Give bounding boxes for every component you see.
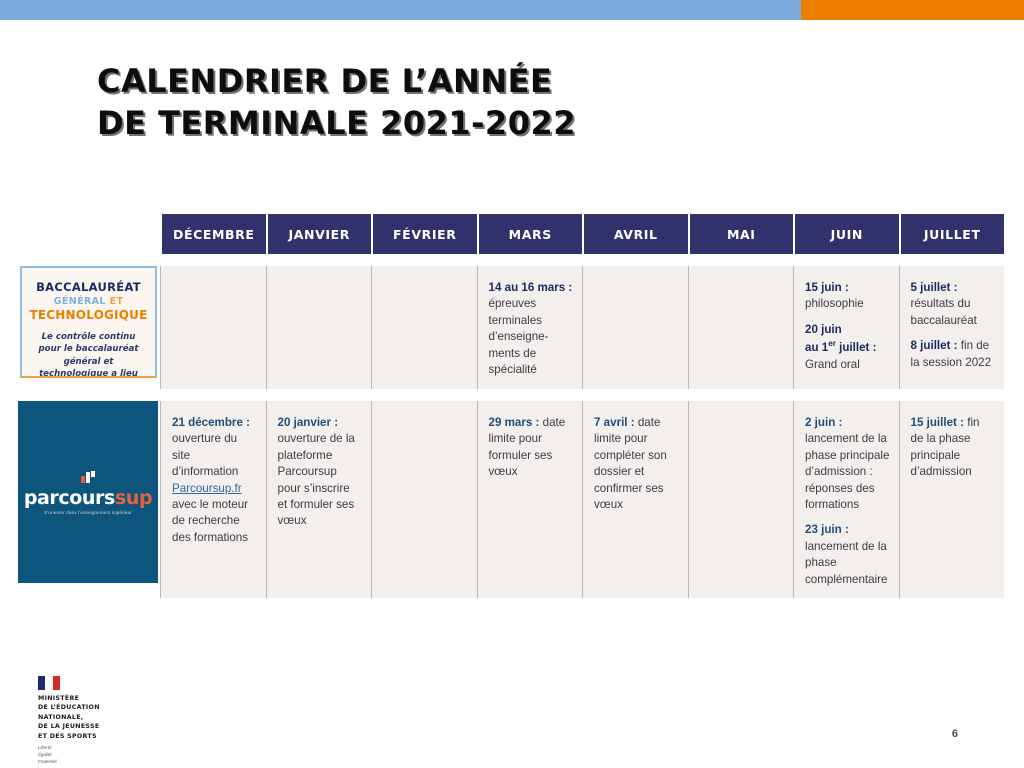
entry-date: 23 juin : — [805, 523, 849, 536]
title-line-1: CALENDRIER DE L’ANNÉE — [97, 60, 797, 102]
entry-date: 2 juin : — [805, 416, 842, 429]
bac-title-et: ET — [110, 296, 124, 307]
ministry-logo: MINISTÈRE DE L’ÉDUCATION NATIONALE, DE L… — [38, 676, 168, 766]
entry-ps-juin-1: 2 juin : lancement de la phase principal… — [805, 415, 890, 514]
entry-date: 5 juillet : — [911, 281, 958, 294]
row-parcoursup: parcourssup S’orienter dans l’enseigneme… — [16, 401, 1004, 599]
bac-title-line1: BACCALAURÉAT — [22, 280, 155, 294]
republic-motto: Liberté Égalité Fraternité — [38, 745, 168, 765]
top-banner — [0, 0, 1024, 20]
entry-date: 8 juillet : — [911, 339, 958, 352]
entry-bac-mars-1: 14 au 16 mars : épreuves terminales d’en… — [489, 280, 574, 379]
entry-date: 29 mars : — [489, 416, 540, 429]
entry-text: philosophie — [805, 297, 864, 310]
cell-ps-juillet: 15 juillet : fin de la phase principale … — [899, 401, 1005, 599]
entry-text: ouverture de la plateforme Parcoursup po… — [278, 432, 355, 527]
french-flag-icon — [38, 676, 60, 690]
cell-ps-fevrier — [371, 401, 477, 599]
month-header-janvier: JANVIER — [268, 214, 372, 254]
parcoursup-link[interactable]: Parcoursup.fr — [172, 482, 242, 495]
parcoursup-word-1: parcours — [24, 487, 115, 509]
cell-ps-avril: 7 avril : date limite pour compléter son… — [582, 401, 688, 599]
entry-ps-juillet-1: 15 juillet : fin de la phase principale … — [911, 415, 996, 481]
motto-liberte: Liberté — [38, 745, 168, 752]
slide-root: CALENDRIER DE L’ANNÉE DE TERMINALE 2021-… — [0, 0, 1024, 768]
entry-date: 7 avril : — [594, 416, 635, 429]
entry-ps-janvier-1: 20 janvier : ouverture de la plateforme … — [278, 415, 363, 530]
ministry-name: MINISTÈRE DE L’ÉDUCATION NATIONALE, DE L… — [38, 694, 168, 741]
cell-ps-janvier: 20 janvier : ouverture de la plateforme … — [266, 401, 372, 599]
month-header-juillet: JUILLET — [901, 214, 1005, 254]
entry-ps-avril-1: 7 avril : date limite pour compléter son… — [594, 415, 679, 514]
entry-text: résultats du baccalauréat — [911, 297, 977, 326]
entry-date: 15 juin : — [805, 281, 849, 294]
entry-date: 21 décembre : — [172, 416, 250, 429]
entry-bac-juin-1: 15 juin : philosophie — [805, 280, 890, 313]
title-line-2: DE TERMINALE 2021-2022 — [97, 102, 797, 144]
page-title: CALENDRIER DE L’ANNÉE DE TERMINALE 2021-… — [97, 60, 797, 144]
bac-title-general: GÉNÉRAL — [54, 296, 106, 307]
bac-title-line2: GÉNÉRAL ET — [22, 296, 155, 307]
cell-bac-decembre — [160, 266, 266, 389]
entry-date: 14 au 16 mars : — [489, 281, 573, 294]
month-header-mars: MARS — [479, 214, 583, 254]
cell-ps-decembre: 21 décembre : ouverture du site d’inform… — [160, 401, 266, 599]
entry-date: 20 janvier : — [278, 416, 339, 429]
banner-orange-segment — [801, 0, 1024, 20]
entry-text: lancement de la phase principale d’admis… — [805, 432, 889, 511]
entry-text: lancement de la phase complémentaire — [805, 540, 887, 586]
month-header-decembre: DÉCEMBRE — [162, 214, 266, 254]
entry-ps-decembre-1: 21 décembre : ouverture du site d’inform… — [172, 415, 257, 547]
banner-blue-segment — [0, 0, 801, 20]
entry-date: 15 juillet : — [911, 416, 964, 429]
baccalaureat-logo-box: BACCALAURÉAT GÉNÉRAL ET TECHNOLOGIQUE Le… — [20, 266, 157, 378]
parcoursup-arrow-icon — [81, 471, 94, 484]
cell-bac-fevrier — [371, 266, 477, 389]
cell-bac-juin: 15 juin : philosophie 20 juinau 1er juil… — [793, 266, 899, 389]
cell-ps-mai — [688, 401, 794, 599]
entry-date: 20 juinau 1er juillet : — [805, 323, 876, 354]
month-header-avril: AVRIL — [584, 214, 688, 254]
entry-bac-juillet-1: 5 juillet : résultats du baccalauréat — [911, 280, 996, 329]
row-label-baccalaureat: BACCALAURÉAT GÉNÉRAL ET TECHNOLOGIQUE Le… — [16, 266, 160, 389]
entry-text: épreuves terminales d’enseigne-ments de … — [489, 297, 549, 376]
entry-text: date limite pour compléter son dossier e… — [594, 416, 667, 511]
parcoursup-word-2: sup — [115, 487, 152, 509]
cell-ps-juin: 2 juin : lancement de la phase principal… — [793, 401, 899, 599]
entry-bac-juillet-2: 8 juillet : fin de la session 2022 — [911, 338, 996, 371]
header-corner-spacer — [16, 214, 160, 254]
cell-bac-avril — [582, 266, 688, 389]
cell-bac-mars: 14 au 16 mars : épreuves terminales d’en… — [477, 266, 583, 389]
entry-ps-mars-1: 29 mars : date limite pour formuler ses … — [489, 415, 574, 481]
parcoursup-tagline: S’orienter dans l’enseignement supérieur — [18, 510, 158, 515]
cell-bac-mai — [688, 266, 794, 389]
month-header-juin: JUIN — [795, 214, 899, 254]
page-number: 6 — [952, 728, 958, 740]
bac-title-line3: TECHNOLOGIQUE — [22, 308, 155, 322]
cell-ps-mars: 29 mars : date limite pour formuler ses … — [477, 401, 583, 599]
bac-note-text: Le contrôle continu pour le baccalauréat… — [22, 331, 155, 378]
calendar-table: DÉCEMBRE JANVIER FÉVRIER MARS AVRIL MAI … — [16, 214, 1004, 610]
motto-fraternite: Fraternité — [38, 759, 168, 766]
motto-egalite: Égalité — [38, 752, 168, 759]
entry-text: ouverture du site d’information Parcours… — [172, 432, 248, 544]
entry-text: Grand oral — [805, 358, 860, 371]
cell-bac-janvier — [266, 266, 372, 389]
calendar-header-row: DÉCEMBRE JANVIER FÉVRIER MARS AVRIL MAI … — [16, 214, 1004, 254]
entry-ps-juin-2: 23 juin : lancement de la phase compléme… — [805, 522, 890, 588]
parcoursup-logo: parcourssup S’orienter dans l’enseigneme… — [18, 469, 158, 515]
parcoursup-logo-box: parcourssup S’orienter dans l’enseigneme… — [18, 401, 158, 583]
month-header-fevrier: FÉVRIER — [373, 214, 477, 254]
cell-bac-juillet: 5 juillet : résultats du baccalauréat 8 … — [899, 266, 1005, 389]
row-label-parcoursup: parcourssup S’orienter dans l’enseigneme… — [16, 401, 160, 599]
month-header-mai: MAI — [690, 214, 794, 254]
entry-bac-juin-2: 20 juinau 1er juillet : Grand oral — [805, 322, 890, 373]
row-baccalaureat: BACCALAURÉAT GÉNÉRAL ET TECHNOLOGIQUE Le… — [16, 266, 1004, 389]
